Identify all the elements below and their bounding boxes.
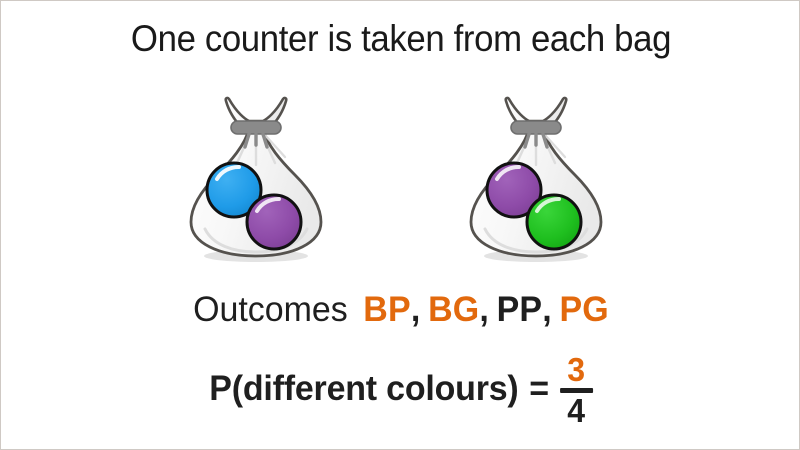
outcomes-line: OutcomesBP,BG,PP,PG (13, 289, 789, 331)
outcome-bg: BG (428, 290, 479, 329)
outcome-bp: BP (363, 290, 411, 329)
fraction-numerator: 3 (567, 354, 585, 385)
probability-expression: P(different colours) (209, 368, 518, 410)
equals-sign: = (529, 368, 549, 410)
outcome-separator-2: , (479, 290, 488, 329)
probability-slide: One counter is taken from each bag (0, 0, 800, 450)
outcome-pp: PP (497, 290, 543, 329)
probability-line: P(different colours) = 3 4 (13, 353, 789, 425)
fraction-denominator: 4 (567, 395, 585, 426)
bag-right (441, 79, 631, 269)
page-title: One counter is taken from each bag (25, 17, 777, 61)
outcome-pg: PG (559, 290, 608, 329)
bag-left (161, 79, 351, 269)
outcome-separator-1: , (411, 290, 420, 329)
fraction: 3 4 (560, 354, 593, 426)
outcomes-label: Outcomes (193, 290, 348, 329)
outcome-separator-3: , (542, 290, 551, 329)
bags-illustration (1, 79, 800, 269)
counter-green (527, 195, 581, 249)
counter-purple (247, 195, 301, 249)
